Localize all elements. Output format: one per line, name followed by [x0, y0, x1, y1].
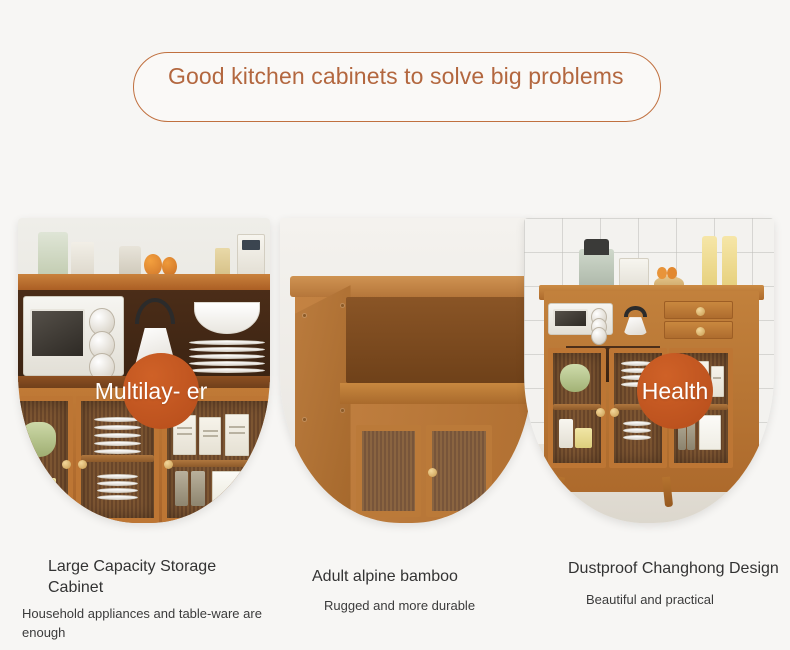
badge-label: Multilay- er — [71, 353, 231, 429]
fluted-glass-door-right — [426, 425, 492, 517]
caption-subtitle: Rugged and more durable — [292, 596, 542, 615]
caption-1: Large Capacity Storage Cabinet Household… — [22, 556, 272, 642]
feature-panel-2[interactable]: Health — [280, 170, 532, 530]
glass-door-left — [18, 396, 73, 523]
page-title: Good kitchen cabinets to solve big probl… — [168, 61, 638, 91]
top-shelf-items — [18, 224, 270, 276]
fluted-glass-door-left — [356, 425, 422, 517]
drawer-bottom — [664, 321, 733, 339]
feature-panel-1[interactable]: Multilay- er — [18, 170, 270, 530]
feature-panels: Multilay- er — [0, 170, 790, 530]
drawer-top — [664, 301, 733, 319]
cabinet-shelf — [340, 383, 532, 404]
caption-subtitle: Beautiful and practical — [546, 590, 790, 609]
feature-panel-3[interactable]: Beautiful — [524, 170, 774, 530]
open-shelf-cavity — [346, 297, 527, 382]
headline-pill: Good kitchen cabinets to solve big probl… — [133, 52, 661, 122]
microwave-oven — [548, 303, 613, 335]
caption-title: Adult alpine bamboo — [292, 566, 542, 587]
caption-title: Large Capacity Storage Cabinet — [22, 556, 272, 598]
cabinet-side-panel — [295, 285, 350, 523]
badge-multilayer: Multilay- er — [123, 353, 199, 429]
product-image-2 — [280, 218, 532, 523]
caption-2: Adult alpine bamboo Rugged and more dura… — [292, 566, 542, 615]
product-feature-banner: Good kitchen cabinets to solve big probl… — [0, 0, 790, 650]
badge-health: Health — [637, 353, 713, 429]
caption-3: Dustproof Changhong Design Beautiful and… — [546, 558, 790, 609]
badge-label: Health — [582, 353, 768, 429]
caption-title: Dustproof Changhong Design — [546, 558, 790, 579]
counter-top — [18, 274, 270, 290]
cabinet-leg-mid — [662, 476, 673, 507]
cabinet-top-rail — [290, 276, 532, 297]
kettle — [621, 309, 649, 335]
caption-subtitle: Household appliances and table-ware are … — [22, 604, 272, 642]
